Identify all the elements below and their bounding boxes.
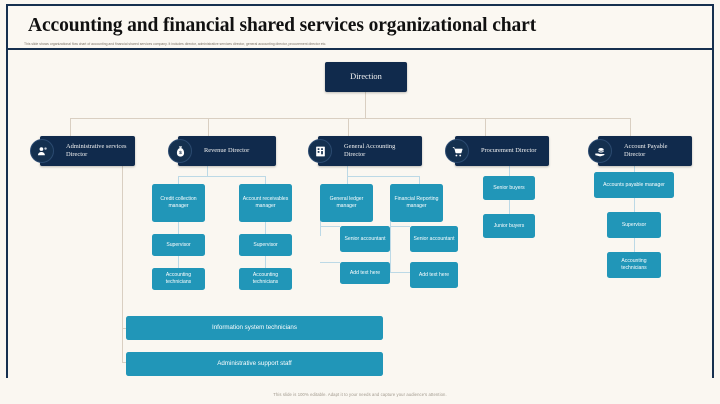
connector-ga-right-2b [390, 272, 410, 273]
node-administrative-services-director[interactable]: Administrative services Director [40, 136, 135, 166]
hand-coin-icon [588, 139, 612, 163]
connector-root-stem [365, 92, 366, 118]
slide-header: Accounting and financial shared services… [8, 6, 712, 50]
connector-drop-3 [348, 118, 349, 136]
bank-building-icon [308, 139, 332, 163]
node-ga-left-add-text-here[interactable]: Add text here [340, 262, 390, 284]
svg-text:$: $ [179, 150, 182, 156]
node-general-accounting-director[interactable]: General Accounting Director [318, 136, 422, 166]
node-administrative-services-director-label: Administrative services Director [40, 143, 135, 159]
node-general-accounting-director-label: General Accounting Director [318, 143, 422, 159]
node-revenue-director[interactable]: $ Revenue Director [178, 136, 276, 166]
node-revenue-left-accounting-technicians-label: Accounting technicians [154, 272, 203, 285]
connector-ga-left-2b [320, 262, 340, 263]
node-revenue-right-accounting-technicians-label: Accounting technicians [241, 272, 290, 285]
page-title: Accounting and financial shared services… [28, 15, 536, 37]
node-ap-accounting-technicians-label: Accounting technicians [609, 258, 659, 271]
connector-ga-left-drop [347, 176, 348, 184]
connector-ap-1 [634, 198, 635, 212]
connector-revenue-stem [207, 166, 208, 176]
connector-drop-4 [485, 118, 486, 136]
slide-subtitle: This slide shows organizational flow cha… [24, 42, 704, 47]
node-ap-accounting-technicians[interactable]: Accounting technicians [607, 252, 661, 278]
connector-ga-right-1 [390, 216, 391, 272]
slide-footer-note: This slide is 100% editable. Adapt it to… [0, 392, 720, 397]
node-revenue-left-supervisor-label: Supervisor [166, 242, 190, 249]
connector-main-trunk [70, 118, 630, 119]
person-icon [30, 139, 54, 163]
connector-ap-2 [634, 238, 635, 252]
connector-revenue-right-drop [265, 176, 266, 184]
node-credit-collection-manager[interactable]: Credit collection manager [152, 184, 205, 222]
node-ga-right-senior-accountant-label: Senior accountant [413, 236, 454, 243]
node-account-payable-director-label: Account Payable Director [598, 143, 692, 159]
connector-revenue-split [178, 176, 266, 177]
connector-drop-5 [630, 118, 631, 136]
money-bag-icon: $ [168, 139, 192, 163]
connector-revenue-right-2 [265, 256, 266, 268]
connector-ga-right-drop [419, 176, 420, 184]
node-revenue-right-supervisor[interactable]: Supervisor [239, 234, 292, 256]
node-information-system-technicians[interactable]: Information system technicians [126, 316, 383, 340]
frame-border-right [712, 4, 714, 378]
connector-drop-1 [70, 118, 71, 136]
node-revenue-right-accounting-technicians[interactable]: Accounting technicians [239, 268, 292, 290]
node-ap-supervisor-label: Supervisor [622, 222, 646, 229]
connector-revenue-left-2 [178, 256, 179, 268]
connector-drop-2 [208, 118, 209, 136]
node-senior-buyers[interactable]: Senior buyers [483, 176, 535, 200]
node-junior-buyers[interactable]: Junior buyers [483, 214, 535, 238]
connector-proc-stem [509, 166, 510, 176]
connector-revenue-left-drop [178, 176, 179, 184]
node-ap-supervisor[interactable]: Supervisor [607, 212, 661, 238]
node-senior-buyers-label: Senior buyers [493, 185, 524, 192]
node-ga-left-senior-accountant[interactable]: Senior accountant [340, 226, 390, 252]
node-ga-right-senior-accountant[interactable]: Senior accountant [410, 226, 458, 252]
node-financial-reporting-manager[interactable]: Financial Reporting manager [390, 184, 443, 222]
connector-revenue-left-1 [178, 222, 179, 234]
node-revenue-left-accounting-technicians[interactable]: Accounting technicians [152, 268, 205, 290]
slide-canvas: Accounting and financial shared services… [0, 0, 720, 404]
node-junior-buyers-label: Junior buyers [494, 223, 525, 230]
node-ga-right-add-text-here[interactable]: Add text here [410, 262, 458, 288]
node-administrative-support-staff[interactable]: Administrative support staff [126, 352, 383, 376]
node-general-ledger-manager-label: General ledger manager [322, 196, 371, 209]
node-information-system-technicians-label: Information system technicians [212, 325, 297, 332]
node-direction[interactable]: Direction [325, 62, 407, 92]
connector-ga-left-1b [320, 226, 340, 227]
node-financial-reporting-manager-label: Financial Reporting manager [392, 196, 441, 209]
node-procurement-director[interactable]: Procurement Director [455, 136, 549, 166]
connector-ga-right-1b [390, 226, 410, 227]
node-accounts-payable-manager-label: Accounts payable manager [603, 182, 665, 189]
connector-ga-stem [347, 166, 348, 176]
node-ga-left-add-text-here-label: Add text here [350, 270, 380, 277]
connector-proc-1 [509, 200, 510, 214]
node-account-receivables-manager[interactable]: Account receivables manager [239, 184, 292, 222]
node-ga-right-add-text-here-label: Add text here [419, 272, 449, 279]
frame-border-left [6, 4, 8, 378]
connector-ga-split [347, 176, 420, 177]
node-account-receivables-manager-label: Account receivables manager [241, 196, 290, 209]
node-administrative-support-staff-label: Administrative support staff [217, 361, 292, 368]
node-ga-left-senior-accountant-label: Senior accountant [344, 236, 385, 243]
node-account-payable-director[interactable]: Account Payable Director [598, 136, 692, 166]
node-direction-label: Direction [350, 73, 382, 81]
node-credit-collection-manager-label: Credit collection manager [154, 196, 203, 209]
node-accounts-payable-manager[interactable]: Accounts payable manager [594, 172, 674, 198]
connector-admin-to-support [122, 166, 123, 362]
connector-revenue-right-1 [265, 222, 266, 234]
node-general-ledger-manager[interactable]: General ledger manager [320, 184, 373, 222]
node-revenue-left-supervisor[interactable]: Supervisor [152, 234, 205, 256]
node-revenue-right-supervisor-label: Supervisor [253, 242, 277, 249]
shopping-cart-icon [445, 139, 469, 163]
